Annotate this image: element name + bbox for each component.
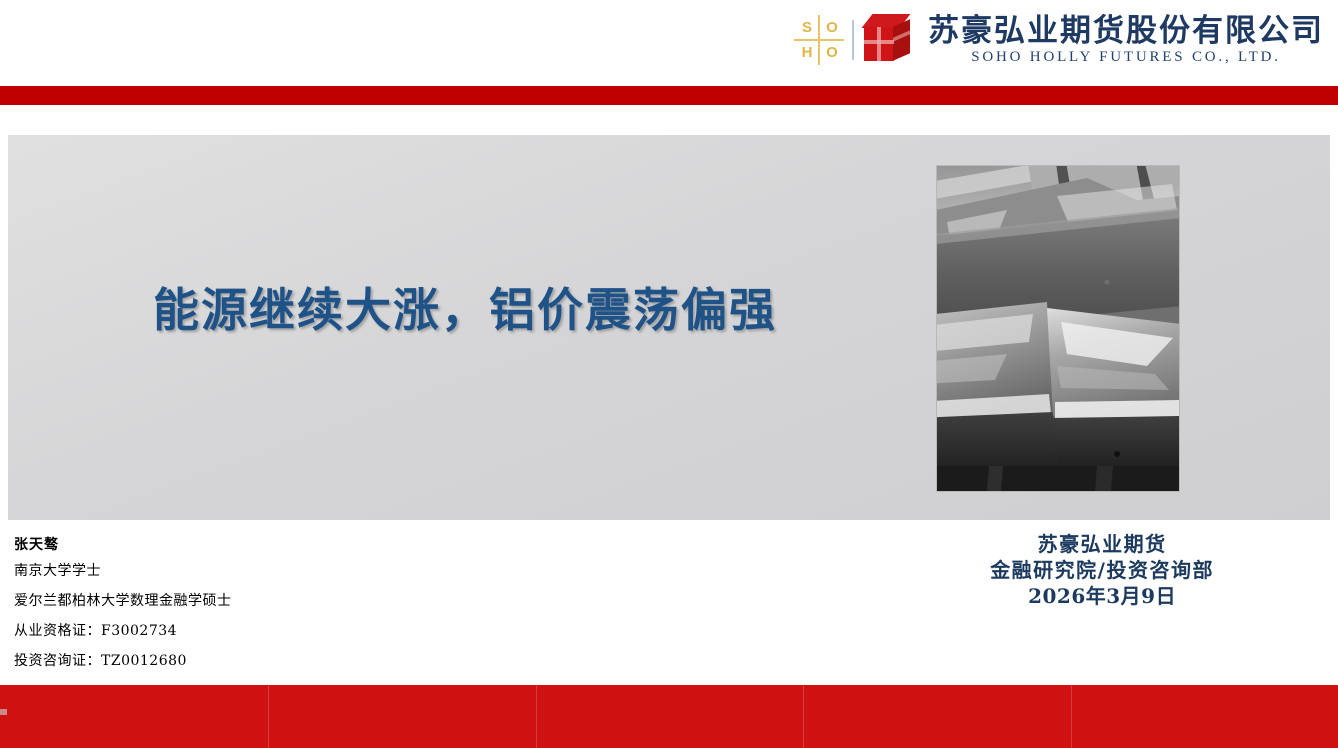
author-info: 张天骜 南京大学学士 爱尔兰都柏林大学数理金融学硕士 从业资格证：F300273… [14,534,232,676]
logo-letter-s: S [796,17,817,38]
logo-grid-vertical-line [818,15,820,65]
author-credential-line-3: 从业资格证：F3002734 [14,616,232,646]
footer-edge-tick [0,709,7,715]
department-division: 金融研究院/投资咨询部 [990,557,1214,583]
footer-segment-divider [803,685,804,748]
company-name-chinese: 苏豪弘业期货股份有限公司 [928,14,1324,48]
red-cube-icon [864,14,914,66]
footer-segment-divider [268,685,269,748]
company-logo: S O H O 苏豪弘业期货股份有限公司 SOHO HOLLY FUTURES … [796,6,1324,74]
logo-letter-o-bottom: O [821,42,842,63]
cube-strap-vertical [877,27,881,61]
logo-wordmark: 苏豪弘业期货股份有限公司 SOHO HOLLY FUTURES CO., LTD… [928,14,1324,67]
slide-header: S O H O 苏豪弘业期货股份有限公司 SOHO HOLLY FUTURES … [0,0,1338,78]
report-date: 2026年3月9日 [990,583,1214,610]
author-name: 张天骜 [14,534,232,556]
author-credential-line-2: 爱尔兰都柏林大学数理金融学硕士 [14,586,232,616]
author-credential-line-4: 投资咨询证：TZ0012680 [14,646,232,676]
presentation-cover-slide: S O H O 苏豪弘业期货股份有限公司 SOHO HOLLY FUTURES … [0,0,1338,748]
department-info: 苏豪弘业期货 金融研究院/投资咨询部 2026年3月9日 [990,531,1214,610]
logo-letter-h: H [796,42,817,63]
page-title: 能源继续大涨，铝价震荡偏强 [50,282,880,338]
department-company: 苏豪弘业期货 [990,531,1214,557]
aluminium-ingots-photo [937,166,1179,491]
header-red-rule [0,86,1338,105]
footer-segment-divider [536,685,537,748]
soho-square-logo-icon: S O H O [796,17,842,63]
footer-segment-divider [1071,685,1072,748]
logo-letter-o-top: O [821,17,842,38]
footer-red-band [0,685,1338,748]
author-credential-line-1: 南京大学学士 [14,556,232,586]
logo-divider [852,20,854,60]
company-name-english: SOHO HOLLY FUTURES CO., LTD. [928,48,1324,67]
